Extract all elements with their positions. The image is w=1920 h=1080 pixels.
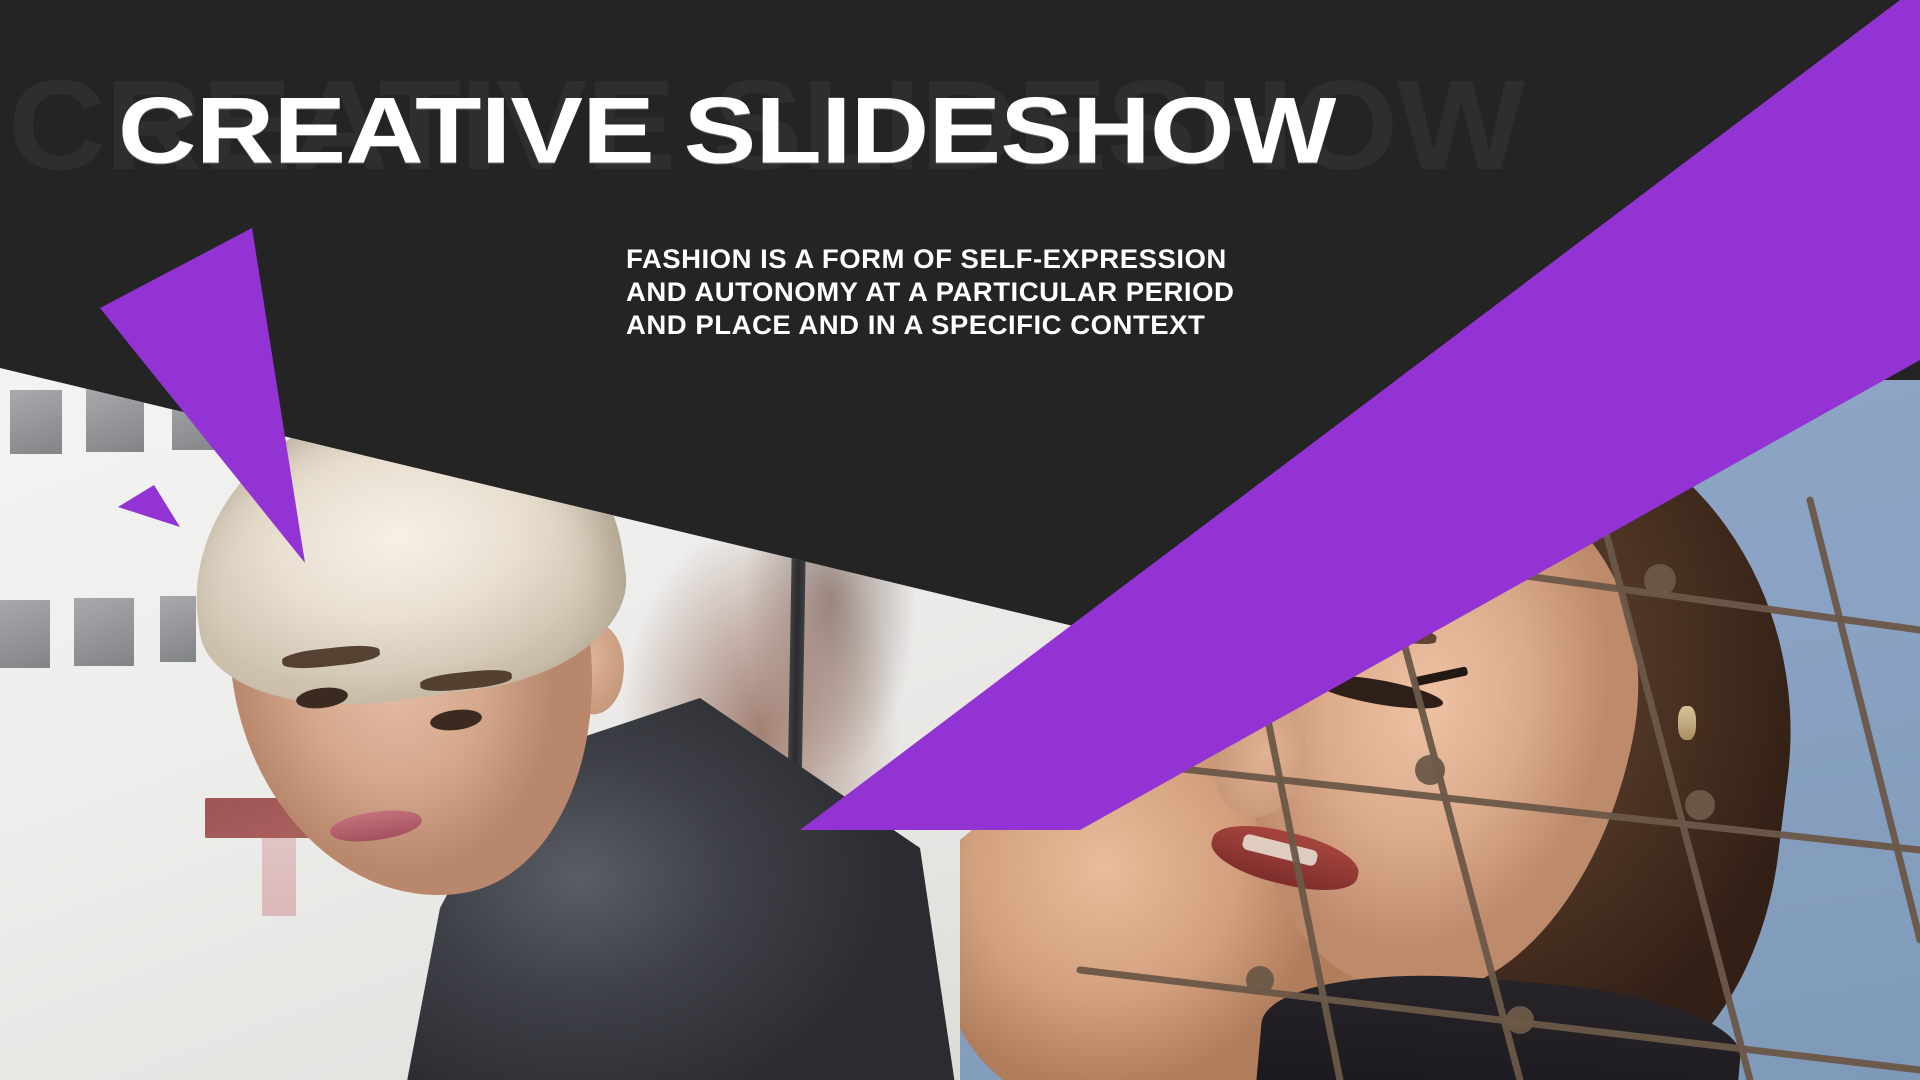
photo-left-man (0, 300, 1090, 1080)
body-line-1: FASHION IS A FORM OF SELF-EXPRESSION (626, 243, 1340, 276)
window-pane (10, 390, 62, 454)
window-pane (0, 600, 50, 668)
street-sign-post (262, 838, 296, 916)
woman-earring (1678, 706, 1696, 740)
body-paragraph: FASHION IS A FORM OF SELF-EXPRESSION AND… (626, 243, 1326, 342)
window-pane (86, 386, 144, 452)
window-pane (160, 596, 196, 662)
body-line-2: AND AUTONOMY AT A PARTICULAR PERIOD (626, 276, 1340, 309)
body-line-3: AND PLACE AND IN A SPECIFIC CONTEXT (626, 309, 1340, 342)
slide-canvas: CREATIVE SLIDESHOW (0, 0, 1920, 1080)
window-pane (74, 598, 134, 666)
page-title: CREATIVE SLIDESHOW (118, 84, 1336, 178)
